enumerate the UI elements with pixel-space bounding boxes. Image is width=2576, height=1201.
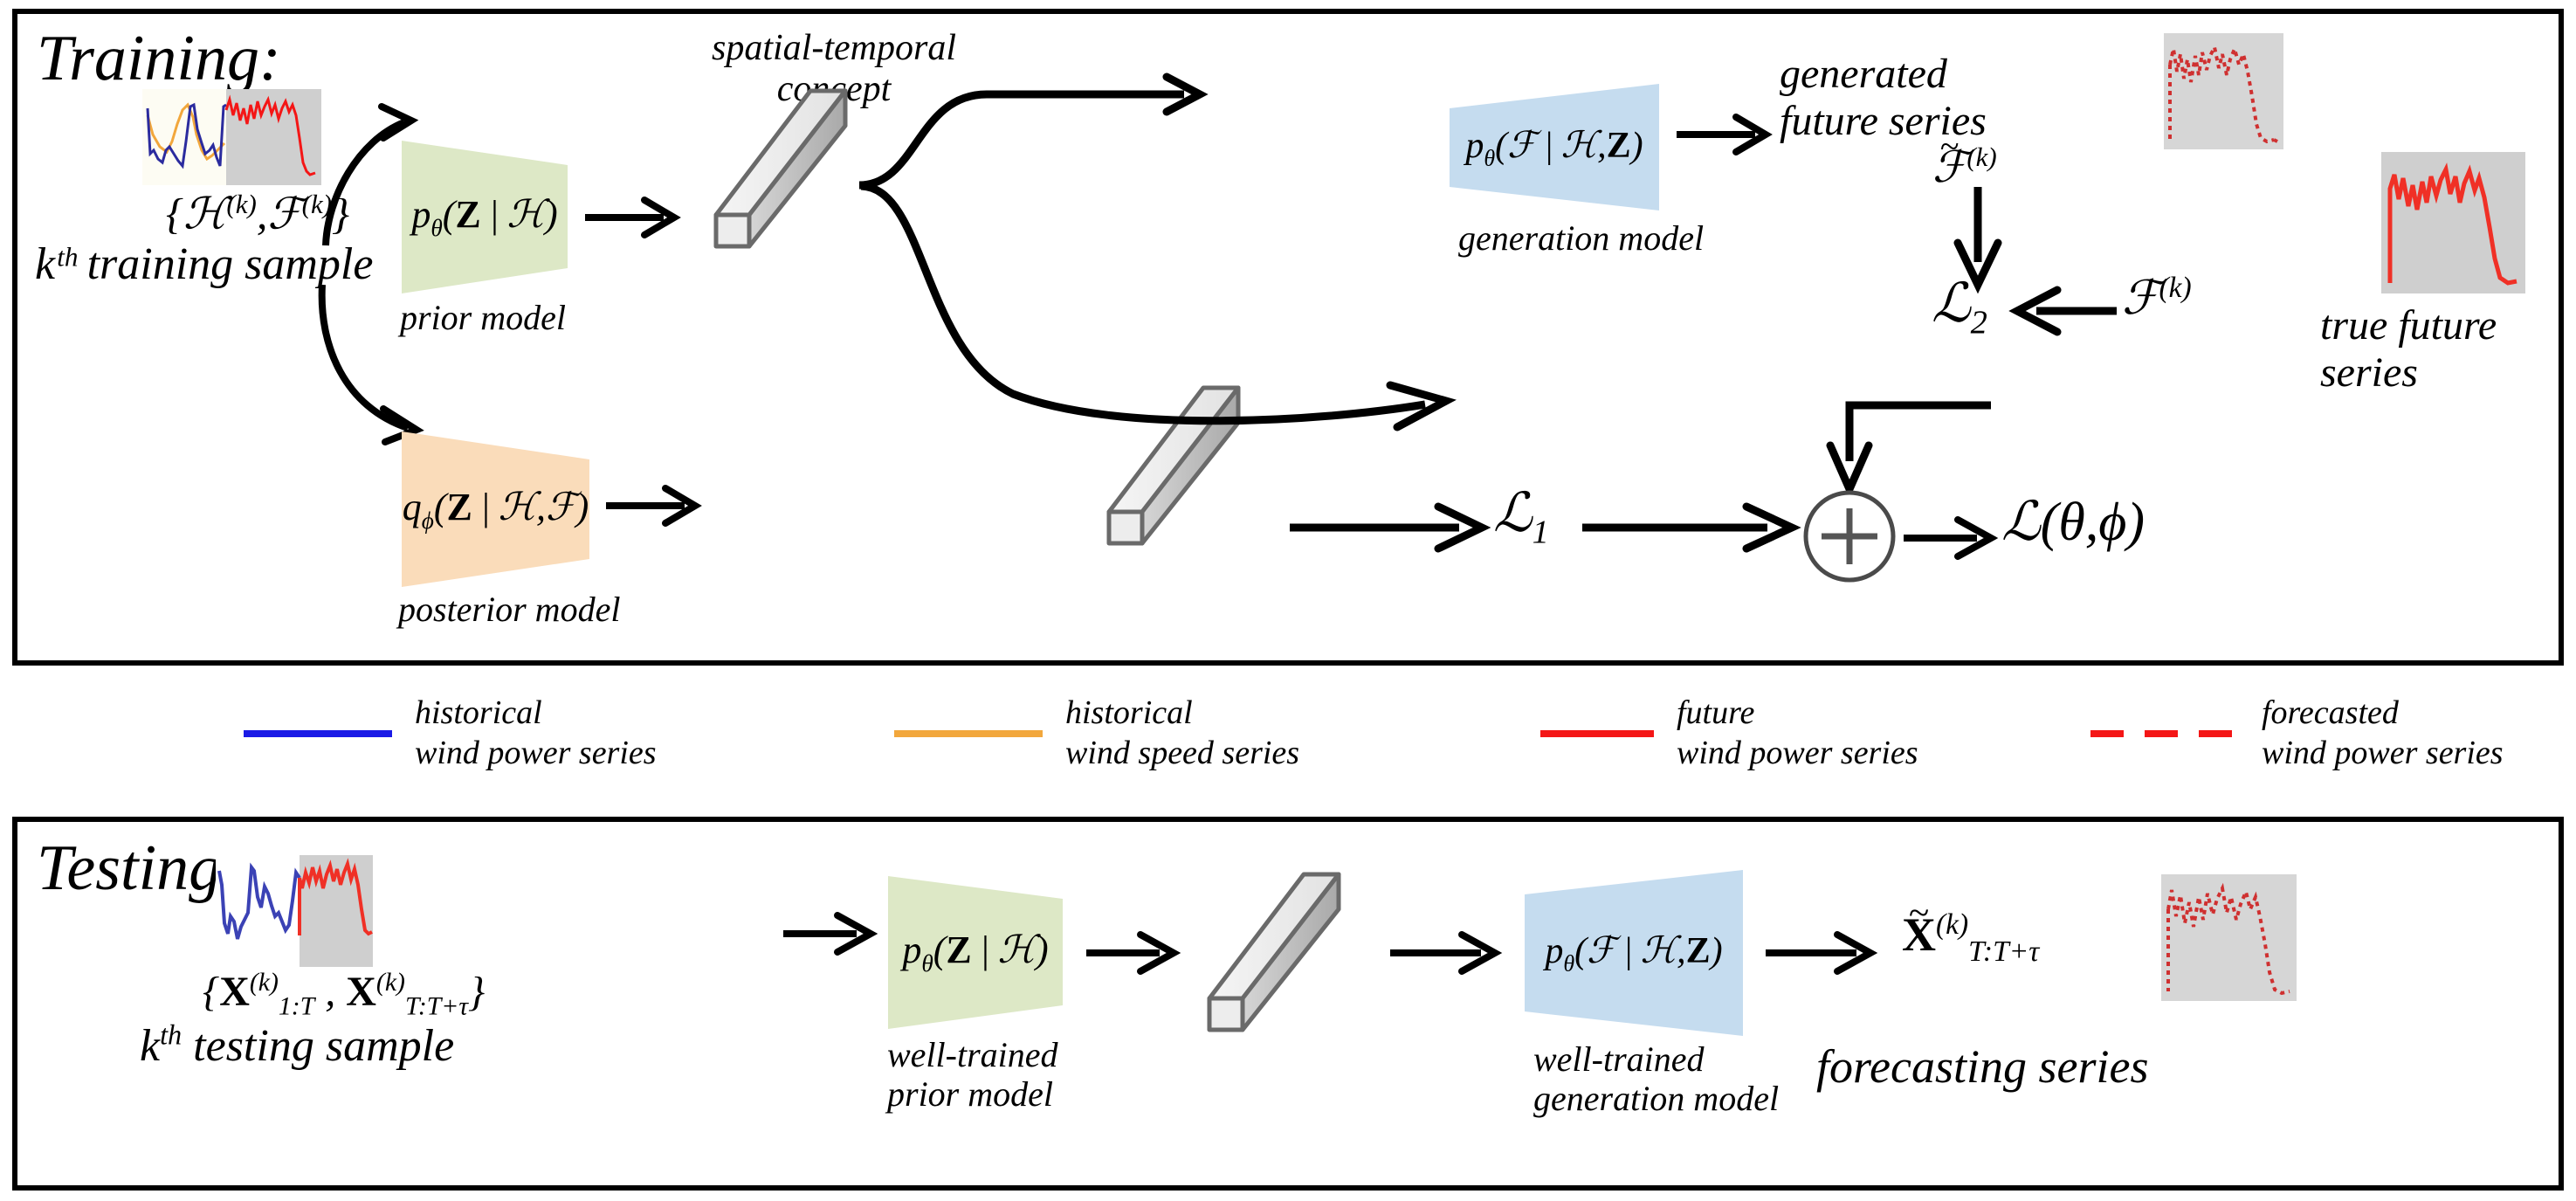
posterior-model-block[interactable]: qϕ(Z | ℋ,ℱ) [402, 431, 589, 587]
testing-generation-model-caption: well-trainedgeneration model [1533, 1040, 1779, 1119]
legend: historicalwind power series historicalwi… [12, 673, 2564, 812]
prior-model-block[interactable]: pθ(Z | ℋ) [402, 141, 568, 293]
generation-model-block[interactable]: pθ(ℱ | ℋ,Z) [1450, 84, 1659, 211]
concept-prism-bottom [1092, 381, 1266, 547]
arrow-generation-to-generated [1675, 110, 1771, 159]
arrow-testing-prior-to-concept [1085, 928, 1181, 977]
loss1-label: ℒ1 [1493, 486, 1549, 550]
total-loss-label: ℒ(θ,ϕ) [2001, 494, 2145, 551]
generated-series-math: ~ℱ(k) [1932, 143, 1997, 190]
true-series-caption: true futureseries [2320, 302, 2497, 397]
loss2-label: ℒ2 [1932, 276, 1987, 341]
testing-concept-prism [1192, 867, 1367, 1033]
testing-sample-caption: kth testing sample [140, 1019, 454, 1073]
legend-item-forecasted-wind-power: forecastedwind power series [2090, 694, 2504, 773]
posterior-model-caption: posterior model [398, 590, 620, 630]
testing-panel: Testing: {X(k)1:T , X(k)T:T+τ} kth testi… [12, 817, 2564, 1191]
generation-model-formula: pθ(ℱ | ℋ,Z) [1450, 84, 1659, 211]
legend-item-historical-wind-speed: historicalwind speed series [894, 694, 1299, 773]
testing-prior-model-formula: pθ(Z | ℋ) [888, 876, 1063, 1029]
arrow-prior-to-concept [583, 193, 679, 242]
legend-swatch-solid-blue [244, 730, 392, 737]
testing-output-math: ~X(k)T:T+τ [1902, 909, 2039, 967]
arrow-posterior-to-concept [604, 481, 700, 530]
training-sample-math: {ℋ(k),ℱ(k)} [166, 190, 349, 237]
arrow-bottom-concept-to-loss1 [1288, 503, 1489, 552]
true-series-math: ℱ(k) [2122, 273, 2192, 323]
testing-prior-model-caption: well-trainedprior model [887, 1036, 1058, 1115]
posterior-model-formula: qϕ(Z | ℋ,ℱ) [402, 431, 589, 587]
training-title: Training: [37, 26, 281, 91]
legend-label-future-wind-power: futurewind power series [1677, 694, 1918, 773]
legend-label-historical-wind-power: historicalwind power series [415, 694, 657, 773]
prior-model-caption: prior model [400, 299, 566, 338]
testing-title: Testing: [37, 836, 243, 901]
generation-model-caption: generation model [1458, 219, 1704, 259]
arrow-loss2-to-plus [1820, 398, 1994, 494]
arrow-plus-to-total-loss [1902, 514, 1998, 563]
arrow-testing-sample-to-prior [782, 909, 878, 958]
legend-item-historical-wind-power: historicalwind power series [244, 694, 657, 773]
legend-swatch-solid-orange [894, 730, 1043, 737]
training-panel: Training: {ℋ(k),ℱ(k)} kᵗʰ training sampl… [12, 9, 2564, 666]
prior-model-formula: pθ(Z | ℋ) [402, 141, 568, 293]
training-sample-plot [142, 89, 321, 185]
training-sample-caption: kᵗʰ training sample [35, 239, 373, 290]
legend-swatch-solid-red [1540, 730, 1654, 737]
legend-item-future-wind-power: futurewind power series [1540, 694, 1918, 773]
arrow-testing-concept-to-generation [1388, 928, 1502, 977]
arrow-testing-generation-to-output [1764, 928, 1877, 977]
testing-generation-model-formula: pθ(ℱ | ℋ,Z) [1525, 870, 1743, 1036]
testing-prior-model-block[interactable]: pθ(Z | ℋ) [888, 876, 1063, 1029]
legend-label-forecasted-wind-power: forecastedwind power series [2262, 694, 2504, 773]
true-future-series-plot [2381, 152, 2525, 293]
testing-sample-math: {X(k)1:T , X(k)T:T+τ} [203, 969, 485, 1020]
forecasting-series-plot [2161, 874, 2297, 1001]
concept-prism-top [699, 84, 873, 250]
generated-future-series-plot [2164, 33, 2283, 149]
testing-generation-model-block[interactable]: pθ(ℱ | ℋ,Z) [1525, 870, 1743, 1036]
arrow-true-to-loss2 [2014, 286, 2118, 335]
testing-sample-plot [216, 855, 373, 967]
legend-label-historical-wind-speed: historicalwind speed series [1065, 694, 1299, 773]
sum-plus-circle [1799, 486, 1900, 587]
arrow-loss1-to-plus [1581, 503, 1799, 552]
legend-swatch-dashed-red [2090, 730, 2239, 737]
forecasting-series-caption: forecasting series [1816, 1040, 2148, 1093]
